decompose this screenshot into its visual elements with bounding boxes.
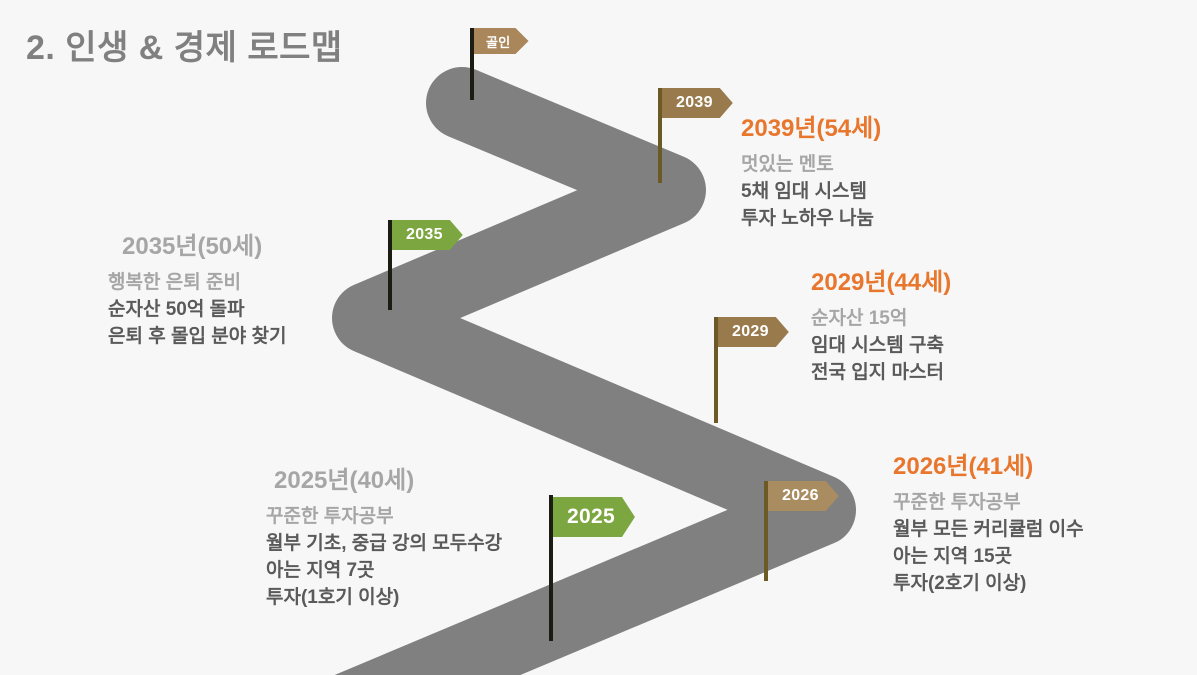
flag-pole (470, 28, 474, 100)
note-line: 순자산 15억 (811, 306, 951, 333)
note-line: 임대 시스템 구축 (811, 333, 951, 360)
note-line: 투자 노하우 나눔 (741, 206, 881, 233)
note-lines: 순자산 15억 임대 시스템 구축 전국 입지 마스터 (811, 306, 951, 387)
flag-pole (388, 220, 392, 310)
flag-label: 2029 (718, 317, 789, 347)
note-line: 아는 지역 15곳 (893, 544, 1084, 571)
note-line: 행복한 은퇴 준비 (108, 270, 286, 297)
note-year-title: 2035년(50세) (122, 226, 286, 261)
note-line: 꾸준한 투자공부 (893, 490, 1084, 517)
note-year-title: 2029년(44세) (811, 262, 951, 297)
note-2025: 2025년(40세) 꾸준한 투자공부 월부 기초, 중급 강의 모두수강 아는… (266, 460, 502, 612)
flag-pole (764, 481, 768, 581)
flag-label: 2035 (392, 220, 463, 250)
note-line: 월부 모든 커리큘럼 이수 (893, 517, 1084, 544)
note-2029: 2029년(44세) 순자산 15억 임대 시스템 구축 전국 입지 마스터 (811, 262, 951, 387)
note-year-title: 2026년(41세) (893, 446, 1084, 481)
note-year-title: 2039년(54세) (741, 108, 881, 143)
flag-pole (714, 317, 718, 423)
note-line: 월부 기초, 중급 강의 모두수강 (266, 531, 502, 558)
note-line: 꾸준한 투자공부 (266, 504, 502, 531)
flag-pole (549, 495, 553, 641)
note-lines: 꾸준한 투자공부 월부 기초, 중급 강의 모두수강 아는 지역 7곳 투자(1… (266, 504, 502, 612)
note-lines: 멋있는 멘토 5채 임대 시스템 투자 노하우 나눔 (741, 152, 881, 233)
note-year-title: 2025년(40세) (274, 460, 502, 495)
note-line: 멋있는 멘토 (741, 152, 881, 179)
note-line: 투자(1호기 이상) (266, 585, 502, 612)
flag-label: 2039 (662, 88, 733, 118)
note-2035: 2035년(50세) 행복한 은퇴 준비 순자산 50억 돌파 은퇴 후 몰입 … (108, 226, 286, 351)
flag-pole (658, 88, 662, 183)
flag-label: 2025 (553, 497, 635, 537)
note-line: 순자산 50억 돌파 (108, 297, 286, 324)
note-2026: 2026년(41세) 꾸준한 투자공부 월부 모든 커리큘럼 이수 아는 지역 … (893, 446, 1084, 598)
note-line: 은퇴 후 몰입 분야 찾기 (108, 324, 286, 351)
note-line: 아는 지역 7곳 (266, 558, 502, 585)
note-line: 투자(2호기 이상) (893, 571, 1084, 598)
flag-label: 2026 (768, 481, 839, 511)
roadmap-slide: 2. 인생 & 경제 로드맵 골인 2039 2035 2029 2026 20… (0, 0, 1197, 675)
note-line: 5채 임대 시스템 (741, 179, 881, 206)
note-2039: 2039년(54세) 멋있는 멘토 5채 임대 시스템 투자 노하우 나눔 (741, 108, 881, 233)
note-lines: 꾸준한 투자공부 월부 모든 커리큘럼 이수 아는 지역 15곳 투자(2호기 … (893, 490, 1084, 598)
note-line: 전국 입지 마스터 (811, 360, 951, 387)
note-lines: 행복한 은퇴 준비 순자산 50억 돌파 은퇴 후 몰입 분야 찾기 (108, 270, 286, 351)
